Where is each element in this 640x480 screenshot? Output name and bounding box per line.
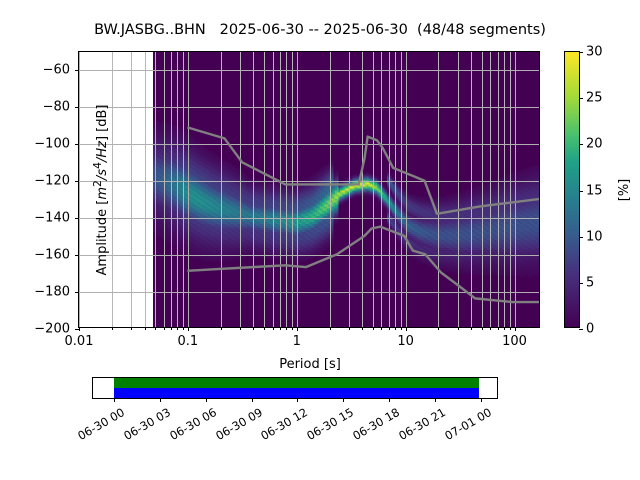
x-tick (292, 327, 293, 330)
x-tick (515, 327, 516, 331)
y-tick-label: −120 (34, 174, 70, 189)
y-tick-label: −80 (43, 100, 70, 115)
y-tick-label: −160 (34, 248, 70, 263)
x-tick (273, 327, 274, 330)
colorbar-tick (579, 52, 583, 53)
colorbar[interactable]: 051015202530 [%] (564, 51, 580, 328)
x-tick (381, 327, 382, 330)
timeline-tick (297, 398, 298, 402)
timeline-axes[interactable]: 06-30 0006-30 0306-30 0606-30 0906-30 12… (92, 377, 498, 399)
x-tick (145, 327, 146, 330)
x-tick (498, 327, 499, 330)
x-tick (177, 327, 178, 330)
x-tick (264, 327, 265, 330)
y-tick-label: −200 (34, 322, 70, 337)
x-tick (188, 327, 189, 331)
colorbar-tick-label: 25 (586, 91, 603, 106)
page-title: BW.JASBG..BHN 2025-06-30 -- 2025-06-30 (… (0, 22, 640, 38)
colorbar-tick-label: 20 (586, 137, 603, 152)
x-tick (286, 327, 287, 330)
colorbar-tick (579, 283, 583, 284)
timeline-tick-label: 06-30 15 (304, 405, 356, 443)
x-tick (438, 327, 439, 330)
timeline-tick (435, 398, 436, 402)
x-tick (471, 327, 472, 330)
colorbar-tick-label: 0 (586, 322, 594, 337)
x-tick (395, 327, 396, 330)
colorbar-tick (579, 98, 583, 99)
x-tick (253, 327, 254, 330)
timeline-tick (114, 398, 115, 402)
timeline-tick (343, 398, 344, 402)
colorbar-tick (579, 237, 583, 238)
x-tick (490, 327, 491, 330)
x-tick (362, 327, 363, 330)
x-tick (510, 327, 511, 330)
x-tick (79, 327, 80, 331)
plot-clip (79, 52, 539, 327)
timeline-tick (160, 398, 161, 402)
colorbar-title: [%] (617, 178, 632, 201)
y-axis-title: Amplitude [m2/s4/Hz] [dB] (91, 104, 110, 275)
x-tick (112, 327, 113, 330)
timeline-tick-label: 07-01 00 (442, 405, 494, 443)
x-tick-label: 1 (293, 334, 301, 349)
y-tick (75, 144, 79, 145)
x-tick (482, 327, 483, 330)
timeline-tick-label: 06-30 03 (121, 405, 173, 443)
y-tick (75, 255, 79, 256)
x-tick (240, 327, 241, 330)
x-tick (389, 327, 390, 330)
ppsd-axes[interactable]: 0.010.1110100 −200−180−160−140−120−100−8… (78, 51, 540, 328)
x-tick (183, 327, 184, 330)
x-tick (406, 327, 407, 331)
x-tick (155, 327, 156, 330)
colorbar-tick-label: 15 (586, 183, 603, 198)
x-tick (373, 327, 374, 330)
timeline-clip (93, 378, 497, 398)
x-tick (171, 327, 172, 330)
colorbar-tick-label: 30 (586, 45, 603, 60)
timeline-coverage-blue (114, 388, 479, 398)
timeline-tick (481, 398, 482, 402)
timeline-tick-label: 06-30 09 (213, 405, 265, 443)
timeline-tick (206, 398, 207, 402)
noise-model-curves (79, 52, 539, 327)
colorbar-tick-label: 10 (586, 229, 603, 244)
timeline-tick-label: 06-30 21 (396, 405, 448, 443)
y-tick-label: −100 (34, 137, 70, 152)
x-tick (504, 327, 505, 330)
colorbar-tick-label: 5 (586, 275, 594, 290)
x-tick (330, 327, 331, 330)
timeline-tick-label: 06-30 18 (350, 405, 402, 443)
timeline-tick-label: 06-30 12 (259, 405, 311, 443)
x-tick (131, 327, 132, 330)
x-tick (221, 327, 222, 330)
x-tick (349, 327, 350, 330)
y-tick-label: −60 (43, 63, 70, 78)
colorbar-tick (579, 191, 583, 192)
y-tick (75, 329, 79, 330)
timeline-coverage-green (114, 378, 479, 388)
y-tick (75, 107, 79, 108)
ppsd-figure: BW.JASBG..BHN 2025-06-30 -- 2025-06-30 (… (0, 0, 640, 480)
y-tick-label: −180 (34, 285, 70, 300)
timeline-tick (252, 398, 253, 402)
nlnm-curve (187, 227, 539, 302)
y-tick (75, 218, 79, 219)
x-tick-label: 10 (397, 334, 414, 349)
x-axis-title: Period [s] (79, 357, 541, 372)
x-tick (458, 327, 459, 330)
y-tick-label: −140 (34, 211, 70, 226)
timeline-tick (389, 398, 390, 402)
y-tick (75, 181, 79, 182)
x-tick-label: 100 (502, 334, 527, 349)
x-tick-label: 0.1 (178, 334, 199, 349)
timeline-tick-label: 06-30 00 (75, 405, 127, 443)
timeline-tick-label: 06-30 06 (167, 405, 219, 443)
nhnm-curve (187, 127, 539, 213)
x-tick (297, 327, 298, 331)
colorbar-tick (579, 144, 583, 145)
y-tick (75, 292, 79, 293)
x-tick (401, 327, 402, 330)
x-tick (280, 327, 281, 330)
y-tick (75, 70, 79, 71)
x-tick (164, 327, 165, 330)
colorbar-tick (579, 329, 583, 330)
